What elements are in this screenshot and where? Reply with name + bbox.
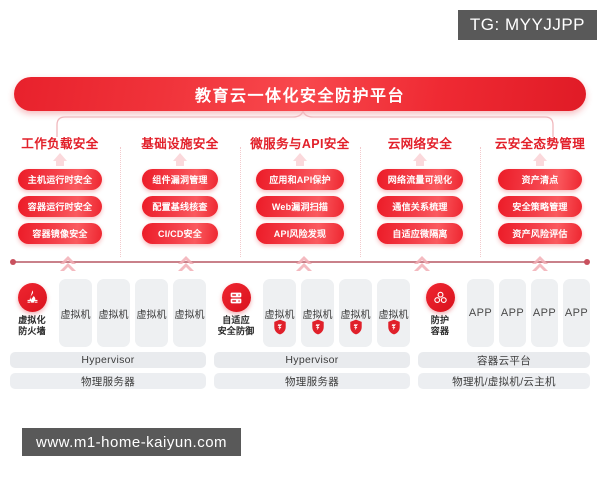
- physical-server-bar: 物理服务器: [10, 373, 206, 389]
- up-arrow-icon: [533, 153, 547, 161]
- vm-node[interactable]: 虚拟机: [263, 279, 296, 347]
- capability-column-cspm: 云安全态势管理 资产清点 安全策略管理 资产风险评估: [480, 131, 600, 251]
- app-node[interactable]: APP: [563, 279, 590, 347]
- capability-column-workload: 工作负载安全 主机运行时安全 容器运行时安全 容器镜像安全: [0, 131, 120, 251]
- capability-pill[interactable]: 网络流量可视化: [377, 169, 463, 190]
- shield-badge-icon: [311, 319, 325, 340]
- platform-title: 教育云一体化安全防护平台: [195, 82, 405, 106]
- column-title: 云安全态势管理: [495, 133, 585, 152]
- node-label: 虚拟机: [175, 306, 205, 321]
- connector-rail: [0, 252, 600, 274]
- capability-pill[interactable]: 自适应微隔离: [377, 223, 463, 244]
- node-label: APP: [533, 307, 556, 319]
- capability-pill[interactable]: 主机运行时安全: [18, 169, 102, 190]
- adaptive-defense-icon: [222, 283, 251, 312]
- double-chevron-up-icon: [60, 256, 76, 271]
- app-node[interactable]: APP: [531, 279, 558, 347]
- shield-badge-icon: [349, 319, 363, 340]
- vm-node[interactable]: 虚拟机: [301, 279, 334, 347]
- shield-badge-icon: [387, 319, 401, 340]
- adaptive-defense-badge[interactable]: 自适应 安全防御: [214, 279, 258, 337]
- virtualization-firewall-badge[interactable]: 虚拟化 防火墙: [10, 279, 54, 337]
- capability-pill[interactable]: API风险发现: [256, 223, 344, 244]
- badge-label: 虚拟化 防火墙: [18, 315, 46, 337]
- capability-pill[interactable]: 容器镜像安全: [18, 223, 102, 244]
- app-node[interactable]: APP: [499, 279, 526, 347]
- site-watermark: www.m1-home-kaiyun.com: [22, 428, 241, 456]
- protection-container-badge[interactable]: 防护 容器: [418, 279, 462, 337]
- capability-pill[interactable]: 安全策略管理: [498, 196, 582, 217]
- capability-pill[interactable]: 资产风险评估: [498, 223, 582, 244]
- up-arrow-icon: [293, 153, 307, 161]
- app-node[interactable]: APP: [467, 279, 494, 347]
- infra-node-row: 自适应 安全防御 虚拟机 虚拟机: [214, 279, 410, 347]
- bar-label: 物理服务器: [285, 374, 339, 389]
- double-chevron-up-icon: [296, 256, 312, 271]
- telegram-watermark: TG: MYYJJPP: [458, 10, 597, 40]
- capability-column-infrastructure: 基础设施安全 组件漏洞管理 配置基线核查 CI/CD安全: [120, 131, 240, 251]
- capability-pill[interactable]: 配置基线核查: [142, 196, 218, 217]
- node-label: APP: [565, 307, 588, 319]
- bar-label: 物理服务器: [81, 374, 135, 389]
- vm-node[interactable]: 虚拟机: [97, 279, 130, 347]
- infra-group-virtualization-firewall: 虚拟化 防火墙 虚拟机 虚拟机 虚拟机 虚拟机 Hypervisor 物理服务器: [10, 279, 206, 389]
- infra-node-row: 防护 容器 APP APP APP APP: [418, 279, 590, 347]
- capability-pill[interactable]: 组件漏洞管理: [142, 169, 218, 190]
- infra-node-row: 虚拟化 防火墙 虚拟机 虚拟机 虚拟机 虚拟机: [10, 279, 206, 347]
- capability-pill[interactable]: CI/CD安全: [142, 223, 218, 244]
- node-label: 虚拟机: [99, 306, 129, 321]
- node-label: 虚拟机: [137, 306, 167, 321]
- vm-node[interactable]: 虚拟机: [173, 279, 206, 347]
- capability-pill[interactable]: 容器运行时安全: [18, 196, 102, 217]
- column-title: 云网络安全: [388, 133, 453, 152]
- up-arrow-icon: [413, 153, 427, 161]
- capability-pill[interactable]: Web漏洞扫描: [256, 196, 344, 217]
- bar-label: Hypervisor: [285, 354, 338, 366]
- capability-pill[interactable]: 应用和API保护: [256, 169, 344, 190]
- infrastructure-layer: 虚拟化 防火墙 虚拟机 虚拟机 虚拟机 虚拟机 Hypervisor 物理服务器: [10, 279, 590, 389]
- capability-column-cloud-network: 云网络安全 网络流量可视化 通信关系梳理 自适应微隔离: [360, 131, 480, 251]
- capability-pill[interactable]: 资产清点: [498, 169, 582, 190]
- column-title: 工作负载安全: [21, 133, 98, 152]
- vm-node[interactable]: 虚拟机: [135, 279, 168, 347]
- shield-badge-icon: [273, 319, 287, 340]
- double-chevron-up-icon: [178, 256, 194, 271]
- vm-node[interactable]: 虚拟机: [339, 279, 372, 347]
- physical-server-bar: 物理服务器: [214, 373, 410, 389]
- bar-label: Hypervisor: [81, 354, 134, 366]
- badge-label: 防护 容器: [431, 315, 449, 337]
- bar-label: 物理机/虚拟机/云主机: [452, 374, 556, 389]
- node-label: APP: [469, 307, 492, 319]
- vm-node[interactable]: 虚拟机: [377, 279, 410, 347]
- bar-label: 容器云平台: [477, 353, 531, 368]
- infra-group-adaptive-defense: 自适应 安全防御 虚拟机 虚拟机: [214, 279, 410, 389]
- infra-group-protection-container: 防护 容器 APP APP APP APP 容器云平台 物理机/虚拟机/云主机: [418, 279, 590, 389]
- host-vm-cloud-bar: 物理机/虚拟机/云主机: [418, 373, 590, 389]
- up-arrow-icon: [173, 153, 187, 161]
- capability-pill[interactable]: 通信关系梳理: [377, 196, 463, 217]
- capability-columns: 工作负载安全 主机运行时安全 容器运行时安全 容器镜像安全 基础设施安全 组件漏…: [0, 131, 600, 251]
- node-label: 虚拟机: [61, 306, 91, 321]
- hypervisor-bar: Hypervisor: [214, 352, 410, 368]
- firewall-flame-icon: [18, 283, 47, 312]
- container-cloud-platform-bar: 容器云平台: [418, 352, 590, 368]
- container-shield-icon: [426, 283, 455, 312]
- node-label: APP: [501, 307, 524, 319]
- hypervisor-bar: Hypervisor: [10, 352, 206, 368]
- badge-label: 自适应 安全防御: [218, 315, 255, 337]
- column-title: 基础设施安全: [141, 133, 218, 152]
- column-title: 微服务与API安全: [250, 133, 349, 152]
- vm-node[interactable]: 虚拟机: [59, 279, 92, 347]
- double-chevron-up-icon: [532, 256, 548, 271]
- dot-icon: [10, 259, 16, 265]
- double-chevron-up-icon: [414, 256, 430, 271]
- capability-column-microservice-api: 微服务与API安全 应用和API保护 Web漏洞扫描 API风险发现: [240, 131, 360, 251]
- dot-icon: [584, 259, 590, 265]
- up-arrow-icon: [53, 153, 67, 161]
- platform-banner: 教育云一体化安全防护平台: [14, 77, 586, 111]
